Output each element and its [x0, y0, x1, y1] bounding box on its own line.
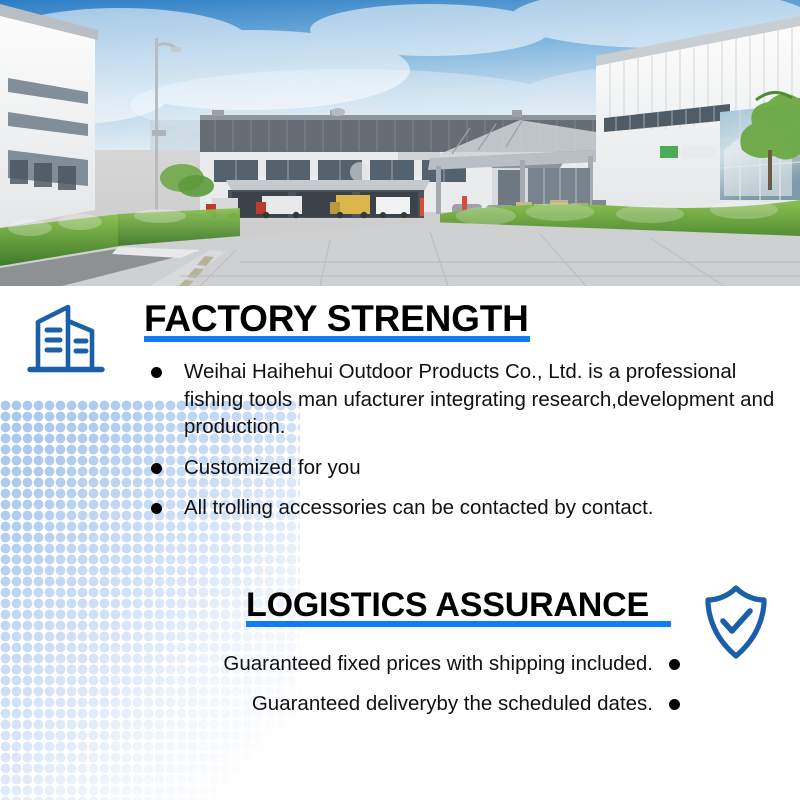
list-item-text: All trolling accessories can be contacte…	[184, 496, 653, 519]
logistics-assurance-heading: LOGISTICS ASSURANCE	[246, 586, 671, 627]
bullet-dot-icon	[151, 503, 162, 514]
list-item-text: Weihai Haihehui Outdoor Products Co., Lt…	[184, 360, 774, 438]
logistics-assurance-bullet-list: Guaranteed fixed prices with shipping in…	[60, 650, 685, 730]
bullet-dot-icon	[151, 367, 162, 378]
logistics-assurance-heading-text: LOGISTICS ASSURANCE	[246, 586, 649, 624]
list-item: All trolling accessories can be contacte…	[146, 494, 776, 522]
bullet-dot-icon	[669, 699, 680, 710]
content-area: FACTORY STRENGTH Weihai Haihehui Outdoor…	[0, 286, 800, 800]
list-item: Guaranteed deliveryby the scheduled date…	[60, 690, 685, 718]
list-item-text: Customized for you	[184, 456, 361, 479]
list-item: Guaranteed fixed prices with shipping in…	[60, 650, 685, 678]
shield-check-icon	[700, 583, 772, 661]
factory-exterior-photo	[0, 0, 800, 286]
bullet-dot-icon	[669, 659, 680, 670]
factory-strength-heading-text: FACTORY STRENGTH	[144, 298, 529, 339]
bullet-dot-icon	[151, 463, 162, 474]
list-item-text: Guaranteed fixed prices with shipping in…	[223, 652, 653, 675]
factory-strength-heading: FACTORY STRENGTH	[144, 299, 530, 342]
factory-strength-bullet-list: Weihai Haihehui Outdoor Products Co., Lt…	[146, 358, 776, 535]
list-item-text: Guaranteed deliveryby the scheduled date…	[252, 692, 653, 715]
list-item: Customized for you	[146, 454, 776, 482]
list-item: Weihai Haihehui Outdoor Products Co., Lt…	[146, 358, 776, 441]
building-icon	[22, 298, 114, 378]
promo-banner: FACTORY STRENGTH Weihai Haihehui Outdoor…	[0, 0, 800, 800]
